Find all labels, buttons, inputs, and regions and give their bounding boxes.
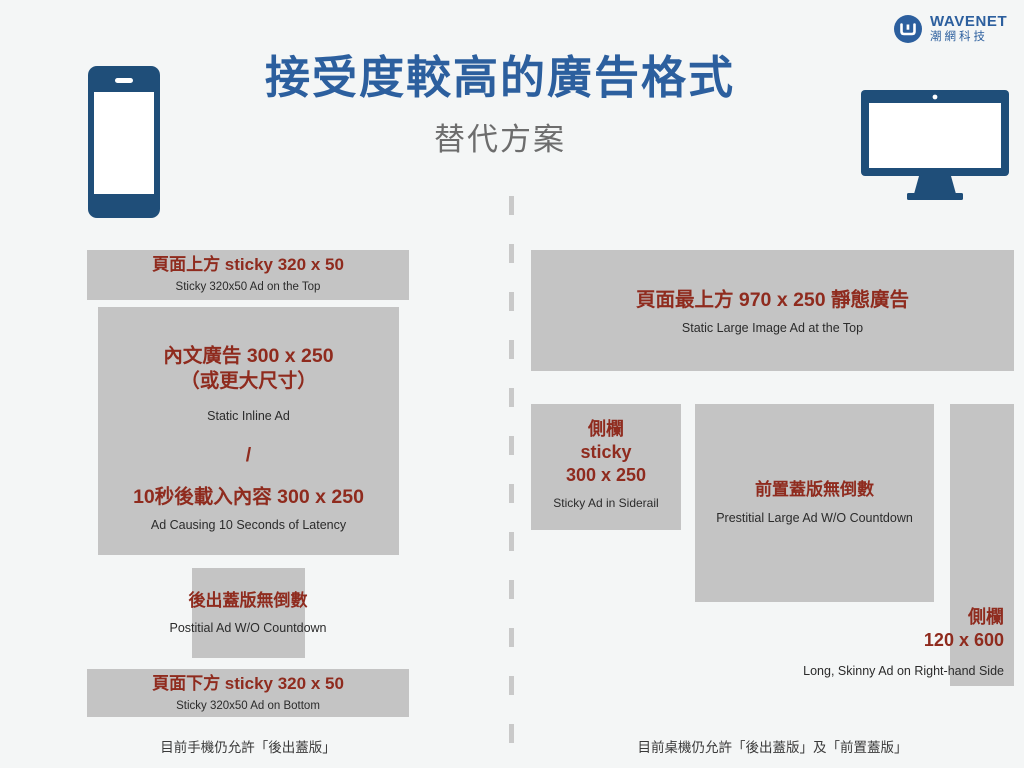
ad-title-siderail-line3: 300 x 250 <box>531 464 681 487</box>
ad-title-bottom-sticky: 頁面下方 sticky 320 x 50 <box>87 673 409 695</box>
ad-title-skinny-line2: 120 x 600 <box>700 629 1004 652</box>
ad-label-static-top: 頁面最上方 970 x 250 靜態廣告 Static Large Image … <box>531 288 1014 337</box>
logo-chinese-name: 潮網科技 <box>930 32 1007 44</box>
ad-desc-inline-latency: Ad Causing 10 Seconds of Latency <box>98 517 399 534</box>
ad-title-skinny-line1: 側欄 <box>700 606 1004 629</box>
ad-title-postitial: 後出蓋版無倒數 <box>85 590 411 612</box>
mobile-phone-icon <box>88 66 160 218</box>
ad-label-inline: 內文廣告 300 x 250 （或更大尺寸） Static Inline Ad … <box>98 344 399 534</box>
ad-title-top-sticky: 頁面上方 sticky 320 x 50 <box>87 254 409 276</box>
ad-label-skinny-right: 側欄 120 x 600 Long, Skinny Ad on Right-ha… <box>700 606 1014 680</box>
ad-title-siderail-line1: 側欄 <box>531 418 681 441</box>
ad-title-prestitial: 前置蓋版無倒數 <box>695 479 934 501</box>
ad-label-top-sticky: 頁面上方 sticky 320 x 50 Sticky 320x50 Ad on… <box>87 254 409 295</box>
logo-wordmark: WAVENET <box>930 14 1007 29</box>
ad-desc-siderail: Sticky Ad in Siderail <box>531 495 681 511</box>
ad-separator-slash: / <box>98 444 399 467</box>
ad-label-postitial: 後出蓋版無倒數 Postitial Ad W/O Countdown <box>85 590 411 637</box>
ad-title-inline-line1: 內文廣告 300 x 250 <box>98 344 399 369</box>
page-subtitle: 替代方案 <box>180 114 820 159</box>
ad-title-inline-line2: （或更大尺寸） <box>98 369 399 394</box>
ad-desc-top-sticky: Sticky 320x50 Ad on the Top <box>87 280 409 296</box>
ad-desc-postitial: Postitial Ad W/O Countdown <box>85 620 411 637</box>
ad-desc-skinny: Long, Skinny Ad on Right-hand Side <box>700 663 1004 680</box>
ad-desc-inline-static: Static Inline Ad <box>98 408 399 425</box>
infographic-root: WAVENET 潮網科技 接受度較高的廣告格式 替代方案 頁面上方 sticky… <box>0 0 1024 768</box>
column-divider <box>509 196 514 766</box>
page-title-block: 接受度較高的廣告格式 替代方案 <box>180 52 820 159</box>
ad-desc-static-top: Static Large Image Ad at the Top <box>531 320 1014 337</box>
spacer <box>98 394 399 408</box>
ad-title-inline-latency: 10秒後載入內容 300 x 250 <box>98 485 399 510</box>
ad-label-siderail: 側欄 sticky 300 x 250 Sticky Ad in Siderai… <box>531 418 681 511</box>
wavenet-logo: WAVENET 潮網科技 <box>893 14 1007 44</box>
ad-label-prestitial: 前置蓋版無倒數 Prestitial Large Ad W/O Countdow… <box>695 479 934 527</box>
ad-desc-bottom-sticky: Sticky 320x50 Ad on Bottom <box>87 699 409 715</box>
desktop-monitor-icon <box>861 90 1009 202</box>
logo-text-block: WAVENET 潮網科技 <box>930 14 1007 44</box>
footnote-mobile: 目前手機仍允許「後出蓋版」 <box>87 736 409 756</box>
ad-label-bottom-sticky: 頁面下方 sticky 320 x 50 Sticky 320x50 Ad on… <box>87 673 409 714</box>
footnote-desktop: 目前桌機仍允許「後出蓋版」及「前置蓋版」 <box>531 736 1014 756</box>
ad-title-siderail-line2: sticky <box>531 441 681 464</box>
page-title: 接受度較高的廣告格式 <box>180 52 820 104</box>
ad-desc-prestitial: Prestitial Large Ad W/O Countdown <box>695 510 934 527</box>
wavenet-circle-icon <box>893 14 923 44</box>
ad-title-static-top: 頁面最上方 970 x 250 靜態廣告 <box>531 288 1014 313</box>
